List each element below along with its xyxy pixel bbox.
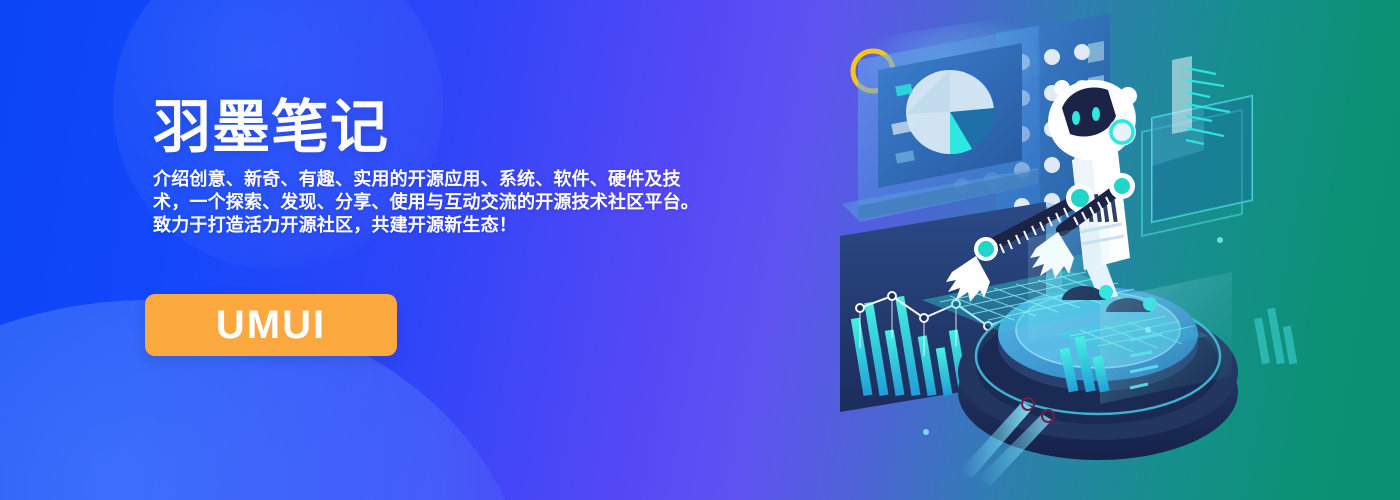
- banner-description: 介绍创意、新奇、有趣、实用的开源应用、系统、软件、硬件及技 术，一个探索、发现、…: [153, 168, 795, 237]
- hero-illustration: [800, 0, 1400, 500]
- umui-cta-button[interactable]: UMUI: [145, 294, 397, 356]
- banner-copy: 羽墨笔记 介绍创意、新奇、有趣、实用的开源应用、系统、软件、硬件及技 术，一个探…: [153, 96, 803, 237]
- page-title: 羽墨笔记: [153, 96, 803, 160]
- description-line-3: 致力于打造活力开源社区，共建开源新生态！: [153, 214, 795, 237]
- pie-chart: [906, 70, 994, 154]
- description-line-2: 术，一个探索、发现、分享、使用与互动交流的开源技术社区平台。: [153, 191, 795, 214]
- right-bar-strip: [1254, 308, 1297, 365]
- hero-banner: 羽墨笔记 介绍创意、新奇、有趣、实用的开源应用、系统、软件、硬件及技 术，一个探…: [0, 0, 1400, 500]
- glass-panel-right-bottom: [1028, 222, 1110, 342]
- description-line-1: 介绍创意、新奇、有趣、实用的开源应用、系统、软件、硬件及技: [153, 168, 795, 191]
